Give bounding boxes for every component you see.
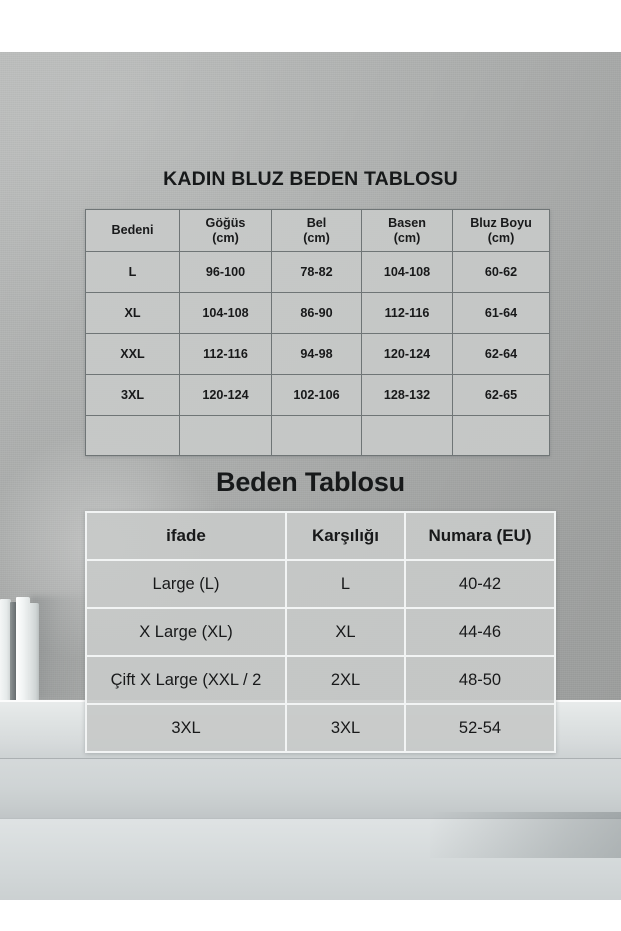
- shelf-front-edge: [0, 758, 621, 820]
- cell-chest: 104-108: [180, 293, 272, 334]
- cell-eu-number: 48-50: [405, 656, 555, 704]
- header-cell-bel: Bel (cm): [272, 210, 362, 252]
- header-line: Basen: [362, 216, 452, 230]
- header-line: Bluz Boyu: [453, 216, 549, 230]
- cell-size: XXL: [86, 334, 180, 375]
- cell-empty: [180, 416, 272, 456]
- cell-size: XL: [86, 293, 180, 334]
- bottom-white-margin: [0, 900, 621, 931]
- table-row: Çift X Large (XXL / 2 2XL 48-50: [86, 656, 555, 704]
- table-row: 3XL 3XL 52-54: [86, 704, 555, 752]
- header-line-unit: (cm): [362, 231, 452, 245]
- cell-size: 3XL: [86, 375, 180, 416]
- header-cell-bedeni: Bedeni: [86, 210, 180, 252]
- header-cell-numara-eu: Numara (EU): [405, 512, 555, 560]
- cell-expression: Large (L): [86, 560, 286, 608]
- header-line-unit: (cm): [453, 231, 549, 245]
- header-cell-basen: Basen (cm): [362, 210, 453, 252]
- cell-equivalent: 3XL: [286, 704, 405, 752]
- cell-waist: 102-106: [272, 375, 362, 416]
- cell-empty: [453, 416, 550, 456]
- cell-expression: Çift X Large (XXL / 2: [86, 656, 286, 704]
- size-conversion-table: ifade Karşılığı Numara (EU) Large (L) L …: [85, 511, 556, 753]
- cell-empty: [272, 416, 362, 456]
- cell-size: L: [86, 252, 180, 293]
- cell-hip: 104-108: [362, 252, 453, 293]
- table-row: XL 104-108 86-90 112-116 61-64: [86, 293, 550, 334]
- cell-waist: 86-90: [272, 293, 362, 334]
- header-cell-karsiligi: Karşılığı: [286, 512, 405, 560]
- cell-equivalent: XL: [286, 608, 405, 656]
- cell-eu-number: 40-42: [405, 560, 555, 608]
- shelf-shadow: [430, 812, 621, 858]
- header-cell-ifade: ifade: [86, 512, 286, 560]
- header-cell-bluz-boyu: Bluz Boyu (cm): [453, 210, 550, 252]
- table-row-empty: [86, 416, 550, 456]
- book-3: [16, 597, 30, 703]
- table-row: Large (L) L 40-42: [86, 560, 555, 608]
- cell-expression: 3XL: [86, 704, 286, 752]
- size-chart-photo: KADIN BLUZ BEDEN TABLOSU Bedeni Göğüs (c…: [0, 0, 621, 931]
- table-header-row: ifade Karşılığı Numara (EU): [86, 512, 555, 560]
- table-row: XXL 112-116 94-98 120-124 62-64: [86, 334, 550, 375]
- blouse-measurements-table: Bedeni Göğüs (cm) Bel (cm) Basen (cm) Bl…: [85, 209, 550, 456]
- cell-length: 62-64: [453, 334, 550, 375]
- cell-hip: 112-116: [362, 293, 453, 334]
- cell-hip: 128-132: [362, 375, 453, 416]
- table-one-title: KADIN BLUZ BEDEN TABLOSU: [0, 168, 621, 191]
- cell-length: 61-64: [453, 293, 550, 334]
- table-two-title: Beden Tablosu: [0, 467, 621, 498]
- cell-eu-number: 52-54: [405, 704, 555, 752]
- table-row: 3XL 120-124 102-106 128-132 62-65: [86, 375, 550, 416]
- cell-length: 62-65: [453, 375, 550, 416]
- cell-waist: 78-82: [272, 252, 362, 293]
- header-line-unit: (cm): [272, 231, 361, 245]
- cell-eu-number: 44-46: [405, 608, 555, 656]
- header-cell-gogus: Göğüs (cm): [180, 210, 272, 252]
- books-stack: [0, 593, 40, 703]
- cell-chest: 112-116: [180, 334, 272, 375]
- cell-equivalent: 2XL: [286, 656, 405, 704]
- header-line: Bel: [272, 216, 361, 230]
- cell-chest: 96-100: [180, 252, 272, 293]
- cell-chest: 120-124: [180, 375, 272, 416]
- header-line: Bedeni: [86, 223, 179, 237]
- cell-length: 60-62: [453, 252, 550, 293]
- cell-waist: 94-98: [272, 334, 362, 375]
- table-row: X Large (XL) XL 44-46: [86, 608, 555, 656]
- table-header-row: Bedeni Göğüs (cm) Bel (cm) Basen (cm) Bl…: [86, 210, 550, 252]
- cell-expression: X Large (XL): [86, 608, 286, 656]
- cell-empty: [362, 416, 453, 456]
- cell-hip: 120-124: [362, 334, 453, 375]
- cell-empty: [86, 416, 180, 456]
- book-4: [29, 603, 39, 703]
- header-line-unit: (cm): [180, 231, 271, 245]
- top-white-margin: [0, 0, 621, 52]
- table-row: L 96-100 78-82 104-108 60-62: [86, 252, 550, 293]
- header-line: Göğüs: [180, 216, 271, 230]
- cell-equivalent: L: [286, 560, 405, 608]
